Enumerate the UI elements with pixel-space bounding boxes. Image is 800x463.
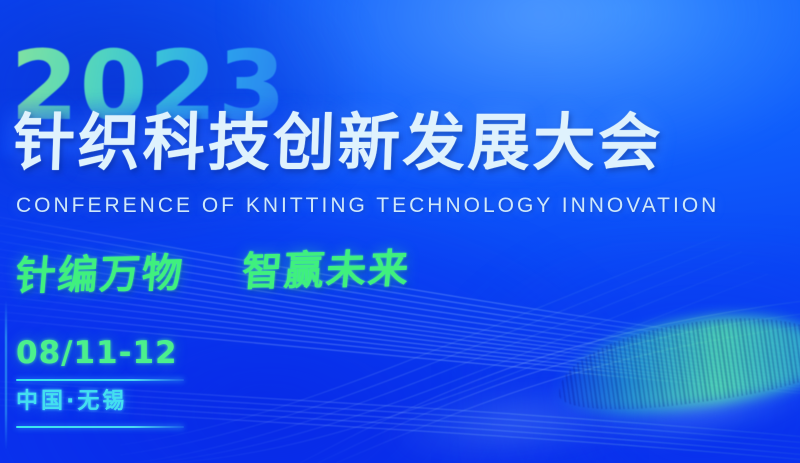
event-meta-block: 08/11-12 中国·无锡 bbox=[16, 338, 184, 435]
slogan-part-two: 智赢未来 bbox=[240, 246, 412, 295]
subtitle-english: CONFERENCE OF KNITTING TECHNOLOGY INNOVA… bbox=[16, 194, 719, 218]
slogan: 针编万物 智赢未来 bbox=[14, 246, 413, 300]
page-title: 针织科技创新发展大会 bbox=[12, 108, 664, 177]
event-date: 08/11-12 bbox=[16, 338, 184, 372]
divider-line-bottom bbox=[16, 426, 184, 428]
slogan-part-one: 针编万物 bbox=[14, 251, 186, 300]
event-location: 中国·无锡 bbox=[16, 388, 184, 419]
poster-content: 2023 针织科技创新发展大会 CONFERENCE OF KNITTING T… bbox=[0, 0, 800, 463]
left-accent-line bbox=[5, 300, 7, 450]
conference-poster: 2023 针织科技创新发展大会 CONFERENCE OF KNITTING T… bbox=[0, 0, 800, 463]
divider-line-top bbox=[16, 379, 184, 381]
